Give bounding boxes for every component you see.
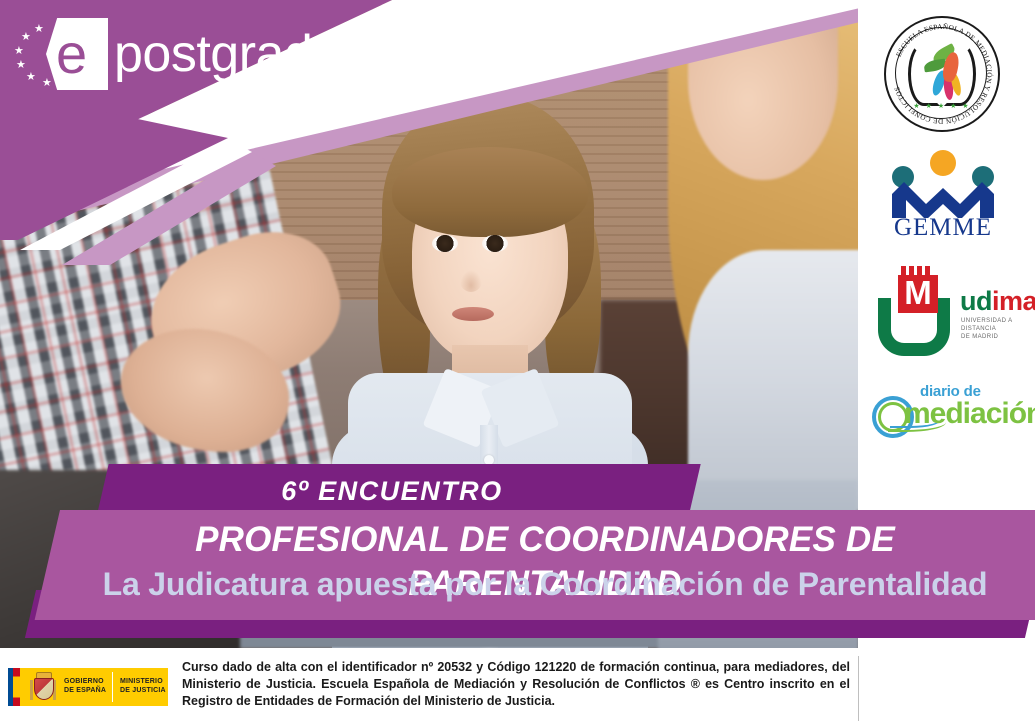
escuela-espanola-mediacion-seal[interactable]: ESCUELA ESPAÑOLA DE MEDIACIÓN Y RESOLUCI… bbox=[884, 16, 1000, 132]
gobierno-de-espana-logo[interactable]: GOBIERNO DE ESPAÑA MINISTERIO DE JUSTICI… bbox=[8, 668, 168, 706]
udima-wordmark: udima bbox=[960, 288, 1035, 315]
seal-stars: ★ ★ ★ ★ ★ bbox=[886, 102, 998, 110]
gobierno-line-2: DE ESPAÑA bbox=[64, 686, 106, 695]
diario-de-mediacion-logo[interactable]: diario de mediación bbox=[864, 378, 1032, 446]
child-mouth bbox=[452, 307, 494, 321]
udima-subtitle-line1: UNIVERSIDAD A DISTANCIA bbox=[961, 317, 1035, 333]
spain-flag-icon bbox=[8, 668, 20, 706]
child-nose bbox=[460, 270, 482, 292]
gemme-head-center-icon bbox=[930, 150, 956, 176]
epostgrado-letter-e: e bbox=[56, 28, 87, 80]
gobierno-text: GOBIERNO DE ESPAÑA bbox=[64, 677, 106, 695]
udima-m-mark: M bbox=[898, 275, 938, 313]
gemme-m-icon bbox=[888, 180, 998, 218]
ministerio-line-2: DE JUSTICIA bbox=[120, 686, 166, 695]
gemme-label: GEMME bbox=[878, 214, 1008, 242]
udima-logo[interactable]: M udima UNIVERSIDAD A DISTANCIA DE MADRI… bbox=[874, 266, 1024, 348]
seal-wreath-left bbox=[908, 42, 940, 106]
udima-subtitle-line2: DE MADRID bbox=[961, 333, 1035, 341]
adult-right-top bbox=[688, 250, 858, 510]
child-bangs bbox=[392, 147, 588, 237]
spain-coat-of-arms-icon bbox=[30, 672, 56, 702]
diario-main-text: mediación bbox=[904, 398, 1035, 430]
udima-subtitle: UNIVERSIDAD A DISTANCIA DE MADRID bbox=[961, 317, 1035, 341]
gemme-logo[interactable]: GEMME bbox=[878, 150, 1008, 245]
gov-logo-divider bbox=[112, 672, 113, 702]
epostgrado-logo[interactable]: ★ ★ ★ ★ ★ ★ e postgrado bbox=[14, 16, 284, 92]
epostgrado-wordmark: postgrado bbox=[114, 23, 341, 85]
udima-word-green: ud bbox=[960, 286, 992, 316]
poster-root: ★ ★ ★ ★ ★ ★ e postgrado ESCUELA ESPAÑOLA… bbox=[0, 0, 1035, 721]
legal-disclaimer-text: Curso dado de alta con el identificador … bbox=[182, 659, 850, 710]
footer-divider bbox=[858, 656, 859, 721]
ministerio-line-1: MINISTERIO bbox=[120, 677, 166, 686]
gobierno-line-1: GOBIERNO bbox=[64, 677, 106, 686]
ministerio-text: MINISTERIO DE JUSTICIA bbox=[120, 677, 166, 695]
child-eye-right bbox=[482, 235, 508, 252]
udima-word-red: ima bbox=[992, 286, 1035, 316]
banner-subtitle: La Judicatura apuesta por la Coordinació… bbox=[70, 562, 1020, 606]
child-eye-left bbox=[432, 235, 458, 252]
